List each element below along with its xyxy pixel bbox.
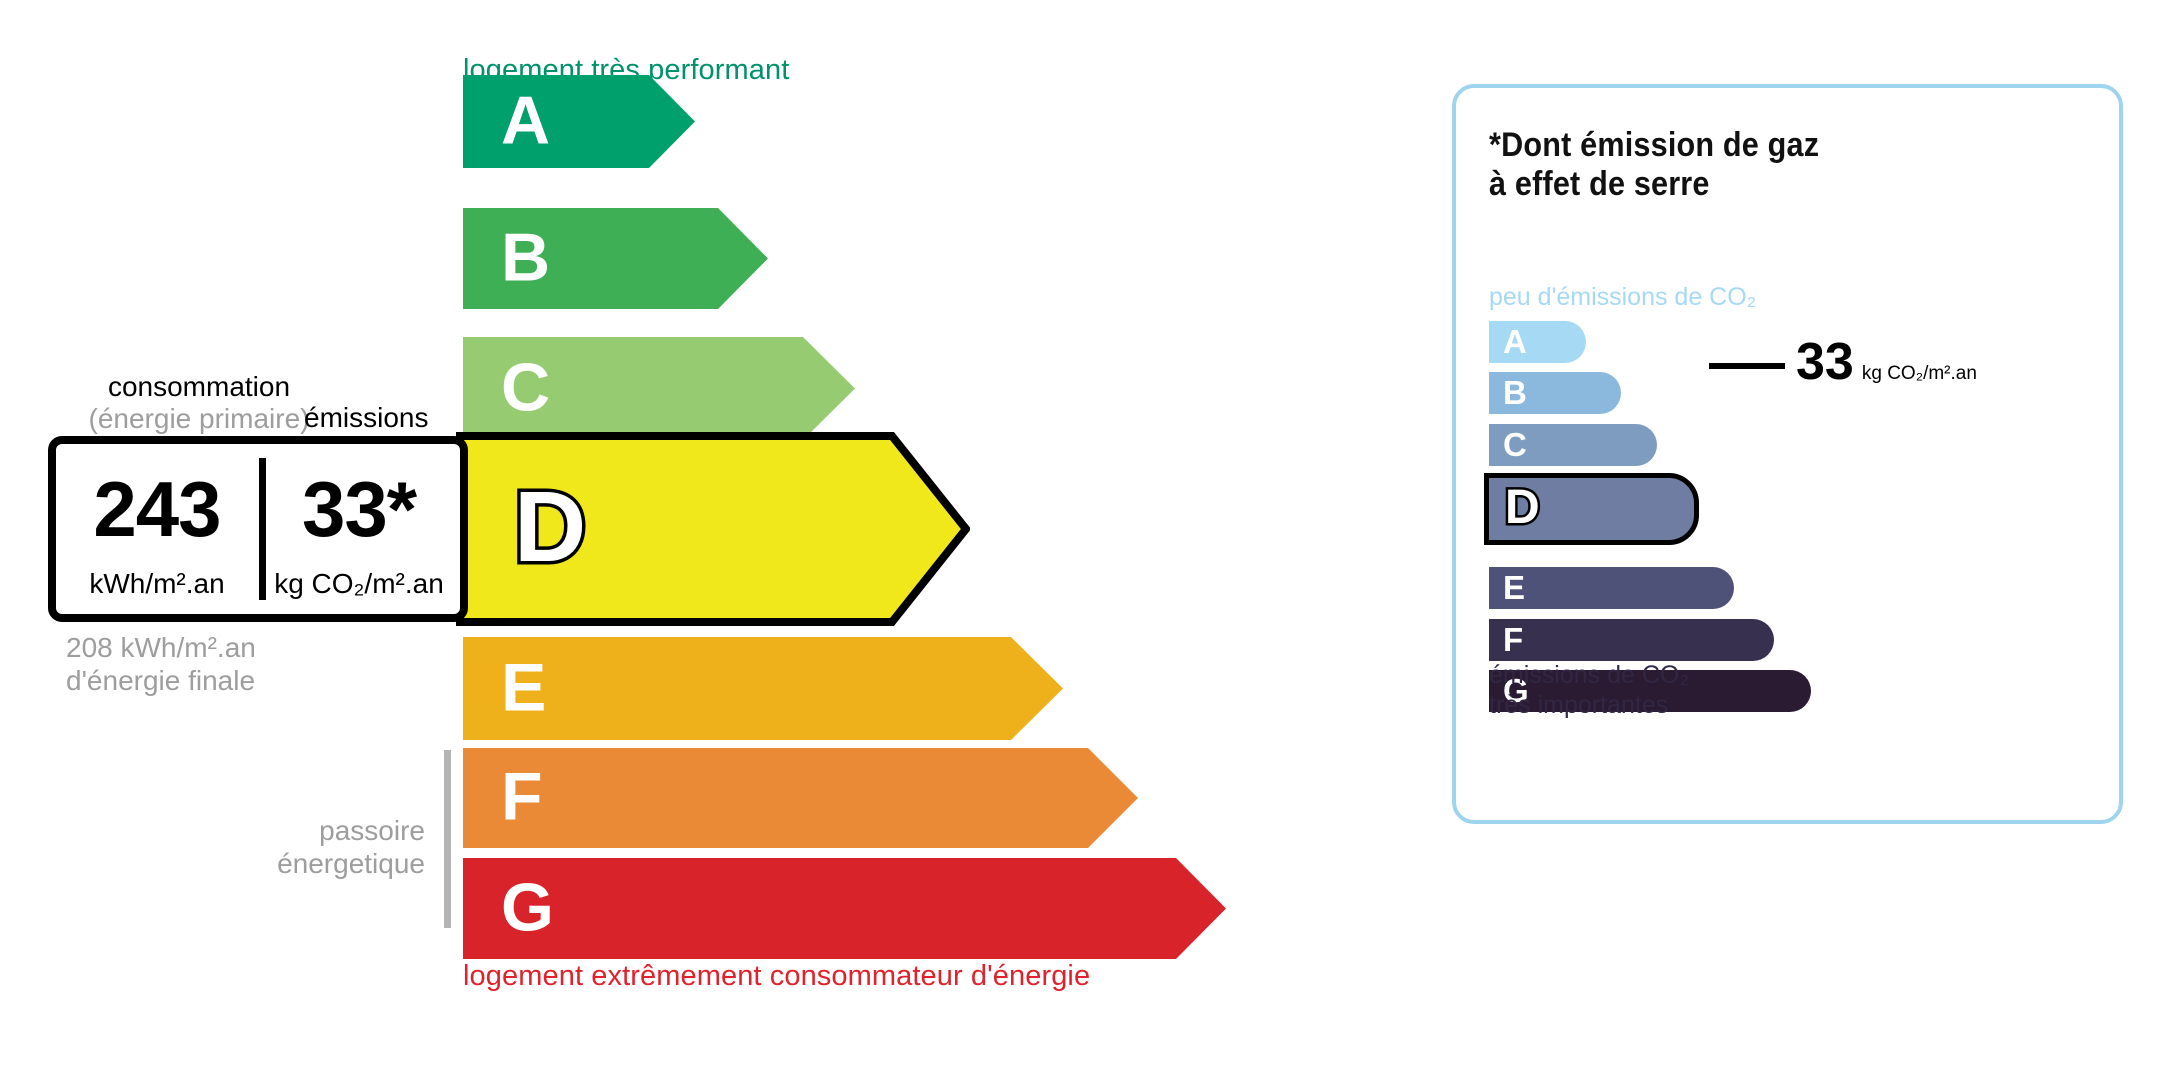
- dpe-energy-label: logement très performant A B C D: [0, 0, 2169, 1079]
- scale-bottom-caption: logement extrêmement consommateur d'éner…: [463, 960, 1090, 993]
- ges-bottom-caption: émissions de CO₂ très importantes: [1489, 660, 1689, 720]
- ges-letter-e: E: [1503, 571, 1525, 604]
- consumption-label-sub: (énergie primaire): [69, 403, 329, 435]
- consumption-value-cell: 243 kWh/m².an: [56, 444, 258, 614]
- ges-panel-title: *Dont émission de gaz à effet de serre: [1489, 126, 1819, 205]
- energy-band-d-label: D: [468, 432, 982, 626]
- ges-title-line2: à effet de serre: [1489, 165, 1819, 204]
- ges-band-a: A: [1489, 321, 1586, 363]
- emissions-value: 33*: [258, 472, 460, 546]
- ges-band-e: E: [1489, 567, 1734, 609]
- final-energy-note: 208 kWh/m².an d'énergie finale: [66, 632, 256, 698]
- ges-top-caption: peu d'émissions de CO₂: [1489, 283, 1756, 312]
- energy-band-g-label: G: [463, 858, 1226, 959]
- final-energy-line1: 208 kWh/m².an: [66, 632, 256, 665]
- band-letter-f: F: [501, 763, 543, 831]
- consumption-value: 243: [56, 472, 258, 546]
- ges-bottom-line2: très importantes: [1489, 690, 1689, 720]
- passoire-line1: passoire: [170, 815, 425, 848]
- energy-band-b-label: B: [463, 208, 768, 309]
- ges-letter-d: D: [1505, 484, 1540, 532]
- passoire-line2: énergetique: [170, 848, 425, 881]
- consumption-label-main: consommation: [69, 371, 329, 403]
- ges-band-b: B: [1489, 372, 1621, 414]
- energy-band-a-label: A: [463, 75, 695, 168]
- energy-band-c-label: C: [463, 337, 855, 440]
- ges-band-f: F: [1489, 619, 1774, 661]
- final-energy-line2: d'énergie finale: [66, 665, 256, 698]
- band-letter-a: A: [501, 86, 550, 154]
- ges-value: 33kg CO₂/m².an: [1796, 336, 1977, 388]
- ges-title-line1: *Dont émission de gaz: [1489, 126, 1819, 165]
- band-letter-d: D: [514, 477, 586, 577]
- value-box: 243 kWh/m².an 33* kg CO₂/m².an: [48, 436, 468, 622]
- consumption-unit: kWh/m².an: [56, 570, 258, 598]
- passoire-label: passoire énergetique: [170, 815, 425, 881]
- ges-leader-line: [1709, 363, 1785, 369]
- emissions-unit: kg CO₂/m².an: [258, 570, 460, 598]
- energy-band-e-label: E: [463, 637, 1063, 740]
- passoire-bracket: [444, 750, 451, 928]
- ges-panel: *Dont émission de gaz à effet de serre p…: [1452, 84, 2123, 824]
- energy-band-f-label: F: [463, 748, 1138, 848]
- ges-letter-f: F: [1503, 623, 1523, 656]
- ges-band-d-selected: D: [1484, 473, 1699, 545]
- band-letter-c: C: [501, 353, 550, 421]
- ges-letter-a: A: [1503, 325, 1527, 358]
- ges-band-c: C: [1489, 424, 1657, 466]
- ges-bottom-line1: émissions de CO₂: [1489, 660, 1689, 690]
- emissions-value-cell: 33* kg CO₂/m².an: [258, 444, 460, 614]
- ges-value-number: 33: [1796, 333, 1854, 391]
- emissions-label: émissions: [304, 402, 428, 434]
- band-letter-b: B: [501, 223, 550, 291]
- ges-value-unit: kg CO₂/m².an: [1862, 363, 1977, 384]
- band-letter-e: E: [501, 653, 546, 721]
- ges-letter-c: C: [1503, 428, 1527, 461]
- ges-letter-b: B: [1503, 376, 1527, 409]
- energy-consumption-scale: logement très performant A B C D: [0, 0, 1400, 1079]
- band-letter-g: G: [501, 873, 554, 941]
- consumption-label: consommation (énergie primaire): [69, 371, 329, 435]
